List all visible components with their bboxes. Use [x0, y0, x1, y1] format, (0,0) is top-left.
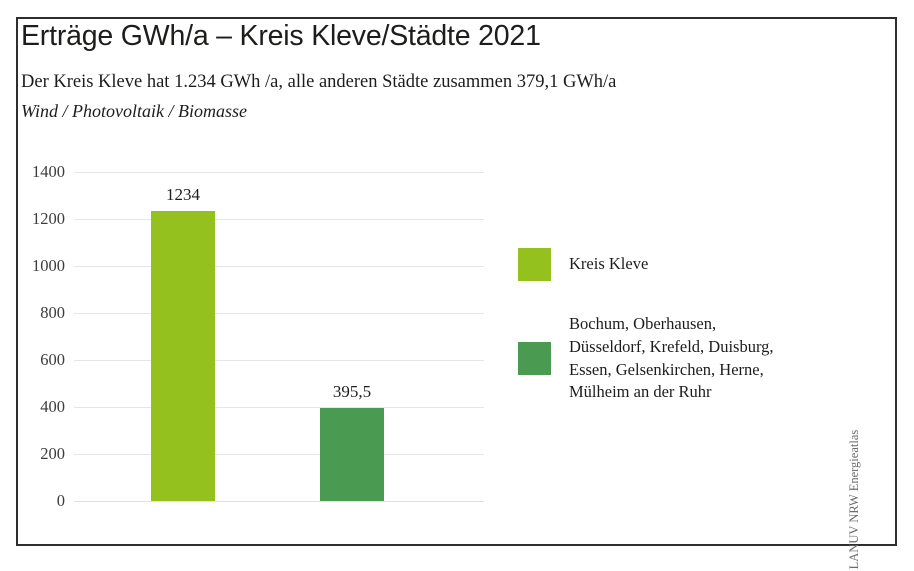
- legend-swatch-icon: [518, 342, 551, 375]
- chart-header: Erträge GWh/a – Kreis Kleve/Städte 2021 …: [21, 19, 616, 123]
- y-axis-tick-label: 400: [40, 397, 65, 417]
- source-text: Quelle: LANUV NRW Energieatlas: [848, 430, 863, 571]
- bar-2: 395,5: [320, 408, 384, 501]
- gridline-1000: 1000: [74, 266, 484, 267]
- legend-label: Bochum, Oberhausen, Düsseldorf, Krefeld,…: [569, 313, 774, 404]
- bar-value-label: 395,5: [333, 382, 371, 402]
- legend-item-2[interactable]: Bochum, Oberhausen, Düsseldorf, Krefeld,…: [518, 313, 808, 404]
- y-axis-tick-label: 800: [40, 303, 65, 323]
- plot-area: 02004006008001000120014001234395,5: [74, 172, 484, 501]
- y-axis-tick-label: 200: [40, 444, 65, 464]
- gridline-600: 600: [74, 360, 484, 361]
- gridline-400: 400: [74, 407, 484, 408]
- gridline-200: 200: [74, 454, 484, 455]
- y-axis-tick-label: 0: [57, 491, 65, 511]
- y-axis-tick-label: 1000: [32, 256, 65, 276]
- bar-1: 1234: [151, 211, 215, 501]
- y-axis-tick-label: 1200: [32, 209, 65, 229]
- chart-note: Wind / Photovoltaik / Biomasse: [21, 100, 616, 123]
- legend-swatch-icon: [518, 248, 551, 281]
- chart-legend: Kreis KleveBochum, Oberhausen, Düsseldor…: [518, 248, 808, 436]
- chart-page: Erträge GWh/a – Kreis Kleve/Städte 2021 …: [0, 0, 914, 571]
- page-title: Erträge GWh/a – Kreis Kleve/Städte 2021: [21, 19, 616, 53]
- legend-label: Kreis Kleve: [569, 253, 648, 276]
- bar-value-label: 1234: [166, 185, 200, 205]
- gridline-1200: 1200: [74, 219, 484, 220]
- y-axis-tick-label: 1400: [32, 162, 65, 182]
- source-caption: Quelle: LANUV NRW Energieatlas: [845, 297, 865, 527]
- chart-subtitle: Der Kreis Kleve hat 1.234 GWh /a, alle a…: [21, 71, 616, 94]
- gridline-800: 800: [74, 313, 484, 314]
- legend-item-1[interactable]: Kreis Kleve: [518, 248, 808, 281]
- gridline-0: 0: [74, 501, 484, 502]
- gridline-1400: 1400: [74, 172, 484, 173]
- y-axis-tick-label: 600: [40, 350, 65, 370]
